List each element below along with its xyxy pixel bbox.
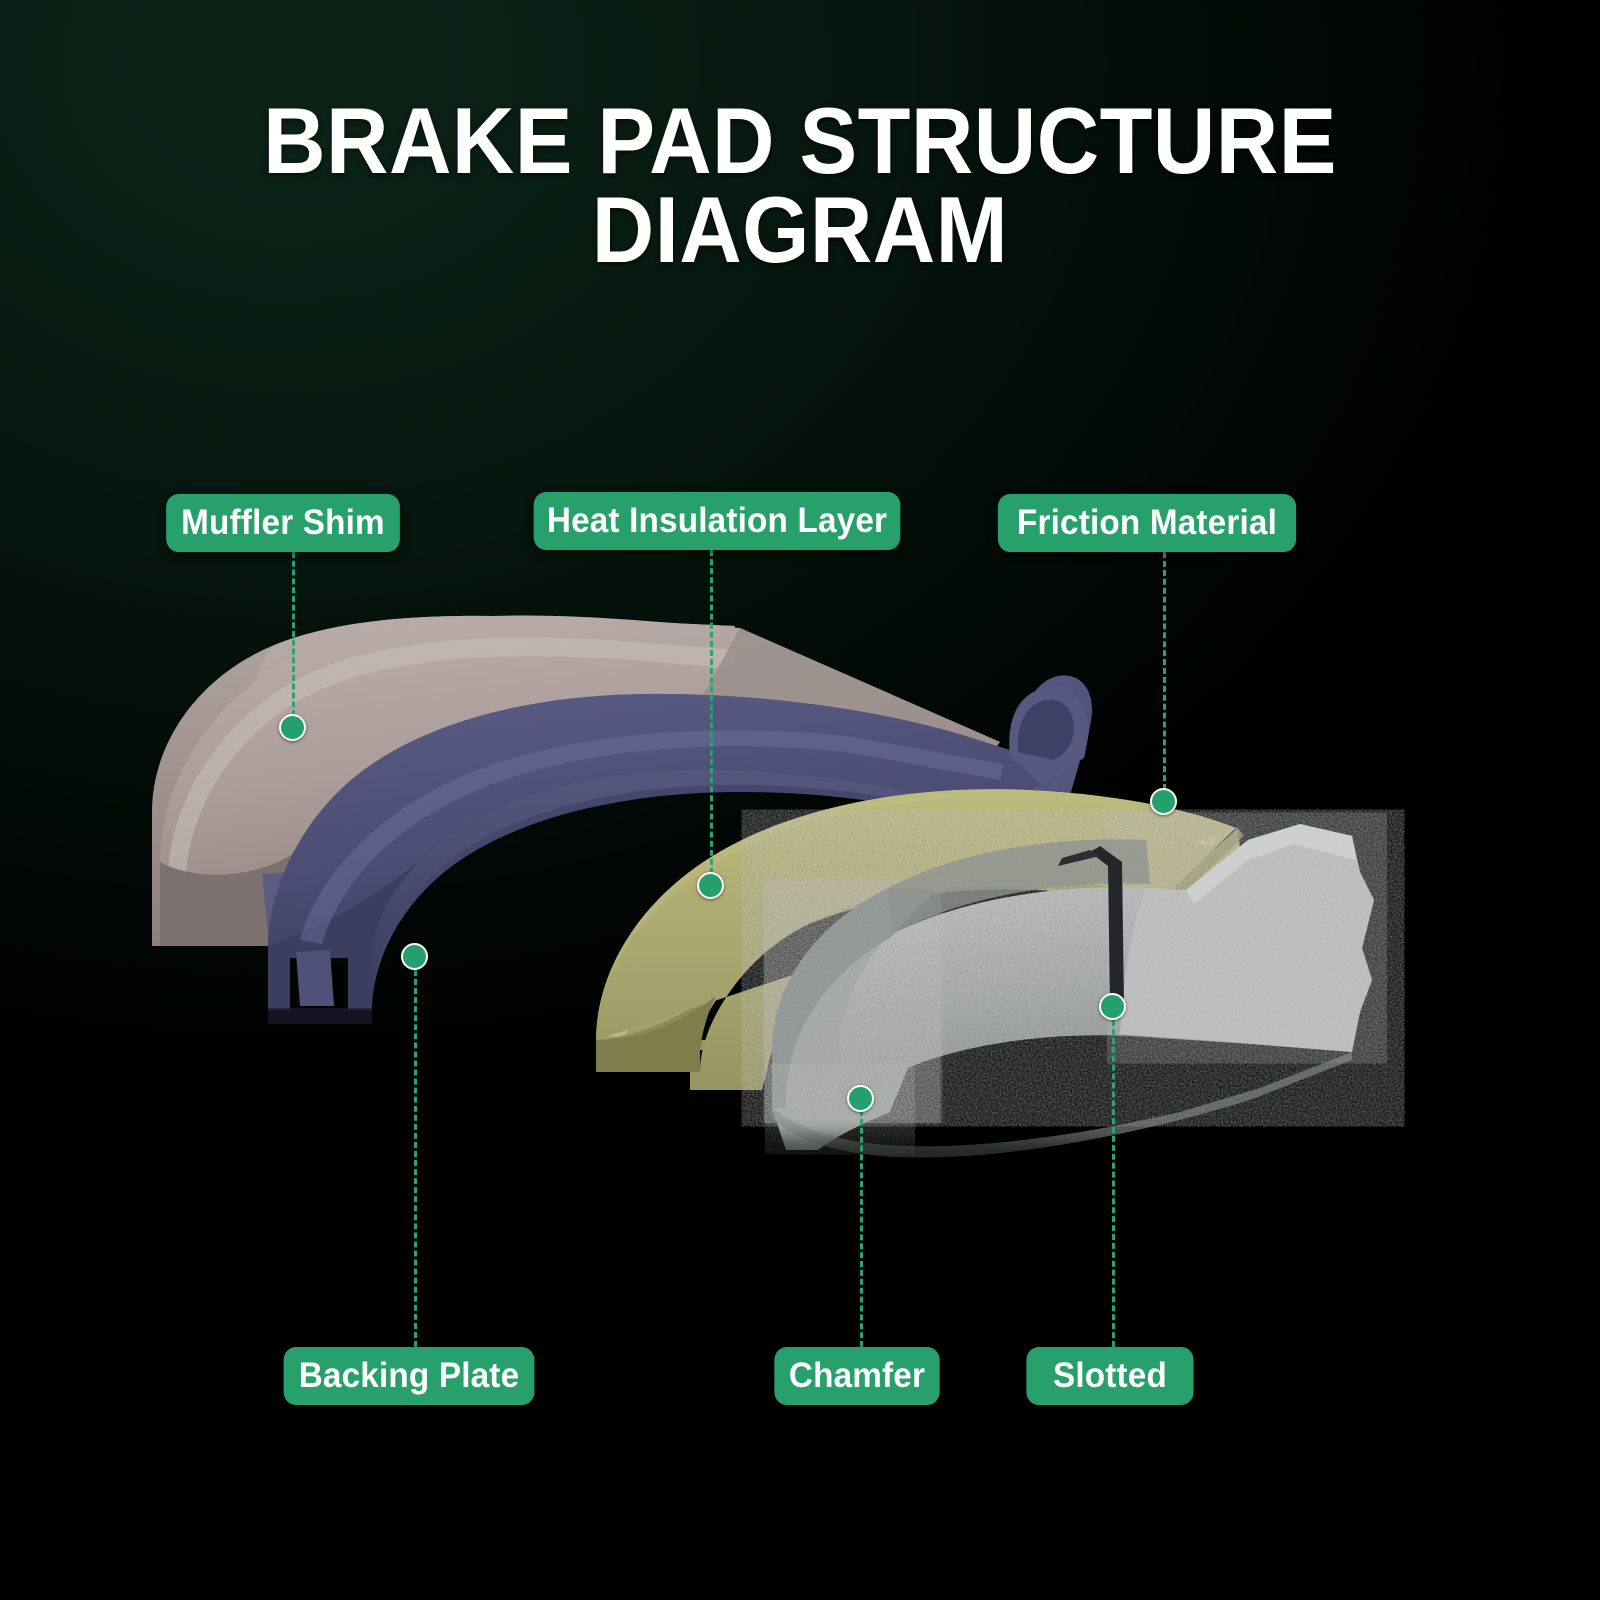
leader-line-friction-material	[1163, 552, 1166, 790]
callout-label-friction-material[interactable]: Friction Material	[998, 494, 1296, 552]
callout-label-slotted[interactable]: Slotted	[1026, 1347, 1193, 1405]
diagram-canvas: BRAKE PAD STRUCTURE DIAGRAM	[0, 0, 1600, 1600]
callout-label-backing-plate[interactable]: Backing Plate	[284, 1347, 535, 1405]
marker-dot-backing-plate[interactable]	[401, 943, 428, 970]
callout-label-chamfer[interactable]: Chamfer	[774, 1347, 939, 1405]
callout-text-muffler-shim: Muffler Shim	[181, 503, 385, 543]
marker-dot-slotted[interactable]	[1099, 993, 1126, 1020]
callout-text-slotted: Slotted	[1053, 1356, 1167, 1396]
callout-label-heat-insulation-layer[interactable]: Heat Insulation Layer	[534, 492, 901, 550]
leader-line-backing-plate	[414, 970, 417, 1347]
callout-text-chamfer: Chamfer	[789, 1356, 925, 1396]
marker-dot-friction-material[interactable]	[1150, 788, 1177, 815]
callout-text-backing-plate: Backing Plate	[299, 1356, 520, 1396]
leader-line-slotted	[1112, 1020, 1115, 1347]
callout-text-friction-material: Friction Material	[1017, 503, 1277, 543]
marker-dot-heat-insulation-layer[interactable]	[697, 872, 724, 899]
marker-dot-chamfer[interactable]	[847, 1085, 874, 1112]
leader-line-heat-insulation-layer	[710, 550, 713, 874]
leader-line-chamfer	[860, 1110, 863, 1347]
marker-dot-muffler-shim[interactable]	[279, 714, 306, 741]
leader-line-muffler-shim	[292, 552, 295, 716]
callout-label-muffler-shim[interactable]: Muffler Shim	[166, 494, 400, 552]
callout-text-heat-insulation-layer: Heat Insulation Layer	[547, 501, 887, 541]
